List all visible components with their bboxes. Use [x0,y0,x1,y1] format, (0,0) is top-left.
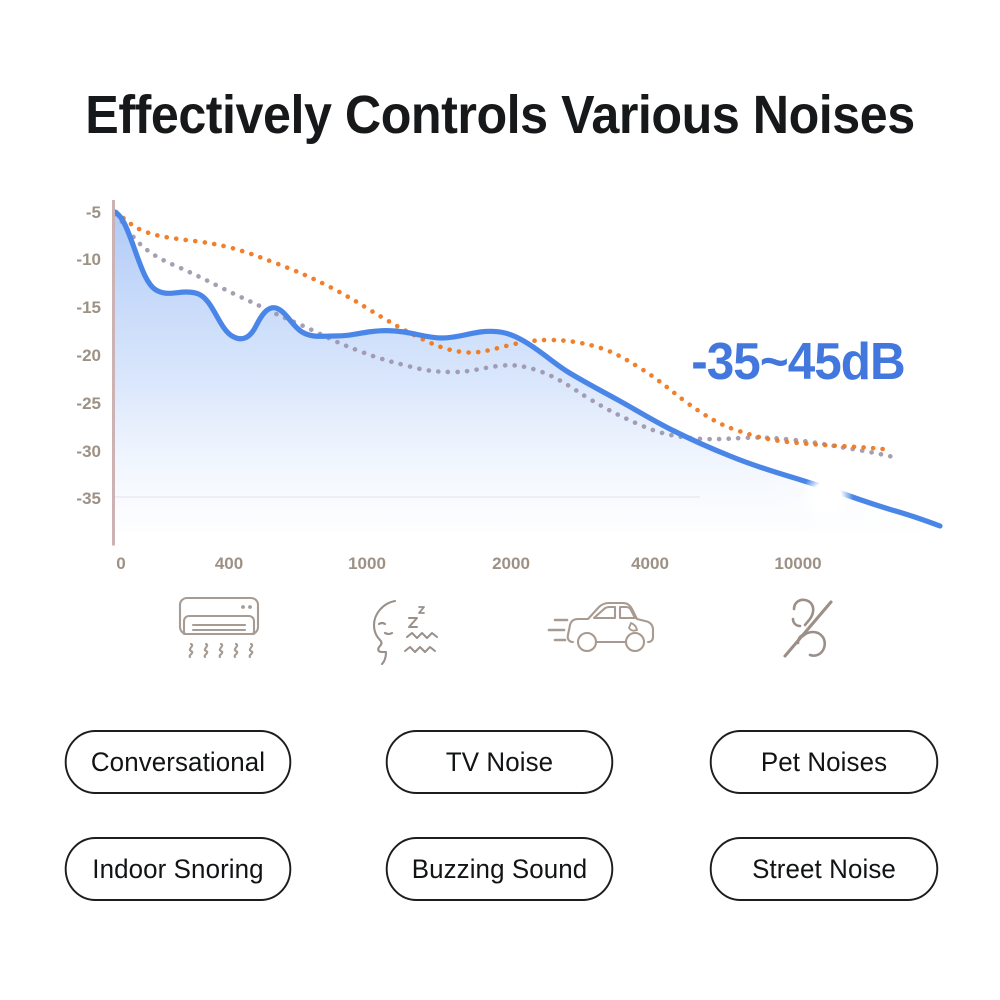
y-tick-label: -35 [76,489,101,508]
noise-off-icon [728,582,888,678]
pill-indoor-snoring[interactable]: Indoor Snoring [65,837,292,901]
y-tick-label: -10 [76,250,101,269]
pill-tv-noise[interactable]: TV Noise [386,730,614,794]
pill-row: Indoor Snoring Buzzing Sound Street Nois… [0,837,1000,944]
chart-marker-dot[interactable] [817,487,838,508]
noise-type-pill-grid: Conversational TV Noise Pet Noises Indoo… [0,730,1000,944]
y-tick-label: -20 [76,346,101,365]
y-tick-label: -5 [86,203,101,222]
y-tick-label: -25 [76,394,101,413]
x-tick-label: 1000 [348,554,386,573]
x-tick-label: 2000 [492,554,530,573]
x-tick-label: 0 [116,554,125,573]
noise-source-icon-row [0,582,1000,682]
y-tick-label: -30 [76,442,101,461]
y-tick-label: -15 [76,298,101,317]
x-tick-label: 400 [215,554,243,573]
page-title: Effectively Controls Various Noises [35,84,965,146]
x-tick-label: 4000 [631,554,669,573]
car-icon [527,582,687,678]
air-conditioner-icon [139,582,299,678]
pill-pet-noises[interactable]: Pet Noises [710,730,938,794]
pill-row: Conversational TV Noise Pet Noises [0,730,1000,837]
snoring-face-icon [325,582,485,678]
pill-conversational[interactable]: Conversational [65,730,292,794]
db-range-callout: -35~45dB [656,332,941,392]
x-tick-label: 10000 [774,554,821,573]
pill-street-noise[interactable]: Street Noise [710,837,938,901]
pill-buzzing-sound[interactable]: Buzzing Sound [386,837,614,901]
